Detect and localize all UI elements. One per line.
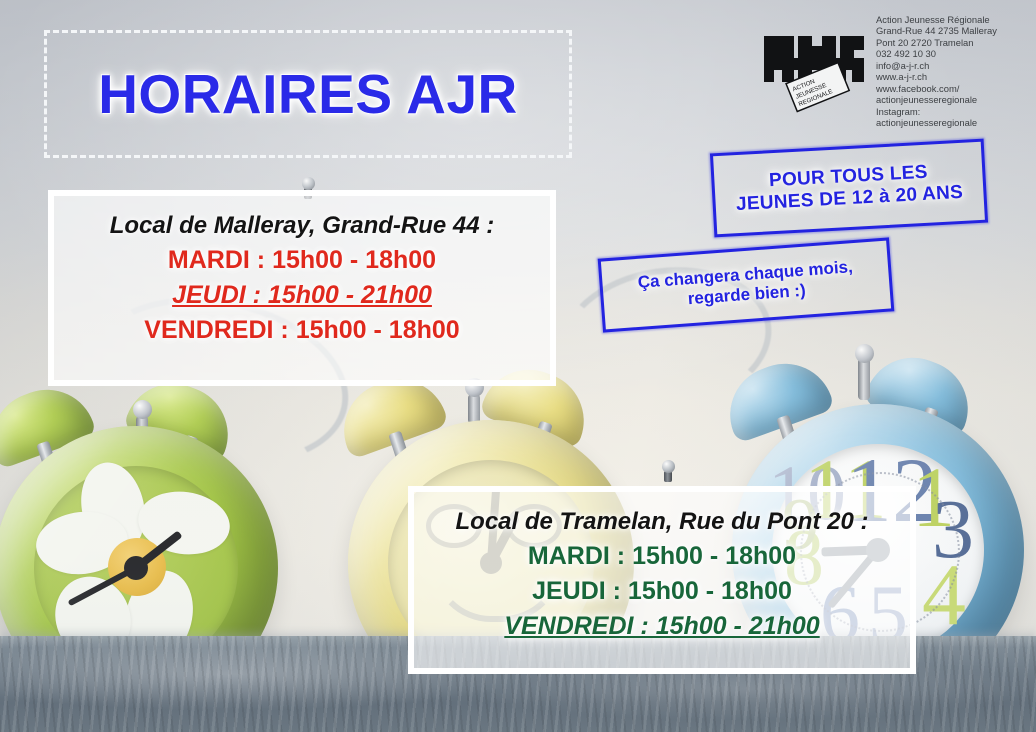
contact-line: Grand-Rue 44 2735 Malleray [876, 25, 1034, 36]
page-title: HORAIRES AJR [44, 30, 572, 158]
contact-info: Action Jeunesse Régionale Grand-Rue 44 2… [876, 14, 1034, 129]
ajr-logo: ACTION JEUNESSE REGIONALE [760, 14, 868, 118]
schedule-line-mardi: MARDI : 15h00 - 18h00 [54, 246, 550, 275]
contact-facebook-handle[interactable]: actionjeunesseregionale [876, 94, 1034, 105]
contact-line: Action Jeunesse Régionale [876, 14, 1034, 25]
ajr-logo-icon: ACTION JEUNESSE REGIONALE [760, 14, 868, 118]
schedule-line-vendredi: VENDREDI : 15h00 - 18h00 [54, 316, 550, 345]
contact-website[interactable]: www.a-j-r.ch [876, 71, 1034, 82]
schedule-line-mardi: MARDI : 15h00 - 18h00 [414, 542, 910, 571]
schedule-panel-malleray: Local de Malleray, Grand-Rue 44 : MARDI … [48, 190, 556, 386]
poster-canvas: 10 11 12 1 3 4 5 6 8 9 HORAIRES AJR [0, 0, 1036, 732]
schedule-line-vendredi: VENDREDI : 15h00 - 21h00 [414, 612, 910, 641]
panel-title-tramelan: Local de Tramelan, Rue du Pont 20 : [414, 508, 910, 536]
contact-phone: 032 492 10 30 [876, 48, 1034, 59]
panel-title-malleray: Local de Malleray, Grand-Rue 44 : [54, 212, 550, 240]
contact-email[interactable]: info@a-j-r.ch [876, 60, 1034, 71]
schedule-line-jeudi: JEUDI : 15h00 - 21h00 [54, 281, 550, 310]
schedule-panel-tramelan: Local de Tramelan, Rue du Pont 20 : MARD… [408, 486, 916, 674]
contact-line: Pont 20 2720 Tramelan [876, 37, 1034, 48]
stamp-age-range: POUR TOUS LES JEUNES DE 12 à 20 ANS [710, 139, 988, 238]
contact-facebook-url[interactable]: www.facebook.com/ [876, 83, 1034, 94]
schedule-line-jeudi: JEUDI : 15h00 - 18h00 [414, 577, 910, 606]
contact-instagram-handle[interactable]: actionjeunesseregionale [876, 117, 1034, 128]
contact-instagram-label: Instagram: [876, 106, 1034, 117]
